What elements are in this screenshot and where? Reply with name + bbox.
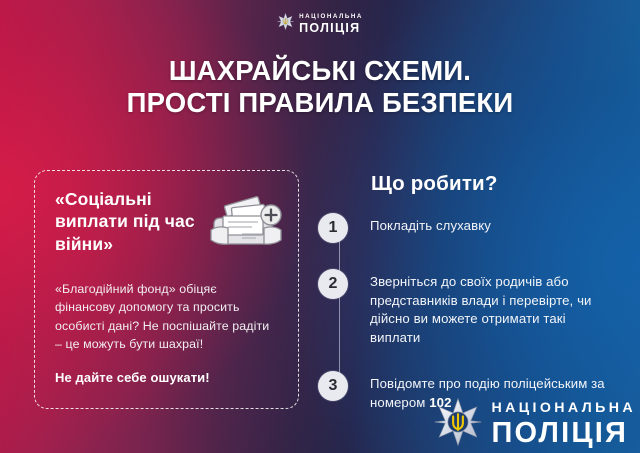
police-star-badge-icon bbox=[277, 13, 294, 35]
footer-line-2: ПОЛІЦІЯ bbox=[491, 419, 636, 448]
card-body-text: «Благодійний фонд» обіцяє фінансову допо… bbox=[55, 280, 278, 353]
brand-wordmark: НАЦІОНАЛЬНА ПОЛІЦІЯ bbox=[299, 14, 363, 35]
step-text-2: Зверніться до своїх родичів або представ… bbox=[370, 273, 618, 348]
header-logo: НАЦІОНАЛЬНА ПОЛІЦІЯ bbox=[0, 13, 640, 35]
card-header-row: «Соціальні виплати під час війни» bbox=[55, 188, 278, 262]
page-title-line-1: ШАХРАЙСЬКІ СХЕМИ. bbox=[0, 55, 640, 87]
page-title-line-2: ПРОСТІ ПРАВИЛА БЕЗПЕКИ bbox=[0, 87, 640, 119]
brand-lockup: НАЦІОНАЛЬНА ПОЛІЦІЯ bbox=[277, 13, 363, 35]
footer-logo: НАЦІОНАЛЬНА ПОЛІЦІЯ bbox=[434, 398, 636, 451]
brand-line-2: ПОЛІЦІЯ bbox=[299, 22, 363, 35]
step-number-badge-2: 2 bbox=[318, 269, 348, 299]
scam-scenario-card: «Соціальні виплати під час війни» bbox=[34, 170, 299, 409]
card-warning-note: Не дайте себе ошукати! bbox=[55, 370, 278, 385]
footer-wordmark: НАЦІОНАЛЬНА ПОЛІЦІЯ bbox=[491, 401, 636, 448]
step-text-1: Покладіть слухавку bbox=[370, 217, 491, 236]
page-title: ШАХРАЙСЬКІ СХЕМИ. ПРОСТІ ПРАВИЛА БЕЗПЕКИ bbox=[0, 55, 640, 119]
brand-line-1: НАЦІОНАЛЬНА bbox=[299, 14, 363, 20]
steps-heading: Що робити? bbox=[371, 172, 498, 196]
steps-list: 1 Покладіть слухавку 2 Зверніться до сво… bbox=[318, 213, 628, 412]
documents-with-plus-icon bbox=[208, 194, 284, 257]
step-item-2: 2 Зверніться до своїх родичів або предст… bbox=[318, 269, 628, 348]
step-item-1: 1 Покладіть слухавку bbox=[318, 213, 628, 243]
step-number-badge-1: 1 bbox=[318, 213, 348, 243]
police-star-badge-icon bbox=[434, 398, 482, 451]
card-heading: «Соціальні виплати під час війни» bbox=[55, 188, 215, 255]
poster-canvas: НАЦІОНАЛЬНА ПОЛІЦІЯ ШАХРАЙСЬКІ СХЕМИ. ПР… bbox=[0, 0, 640, 453]
step-number-badge-3: 3 bbox=[318, 371, 348, 401]
footer-line-1: НАЦІОНАЛЬНА bbox=[491, 401, 636, 415]
